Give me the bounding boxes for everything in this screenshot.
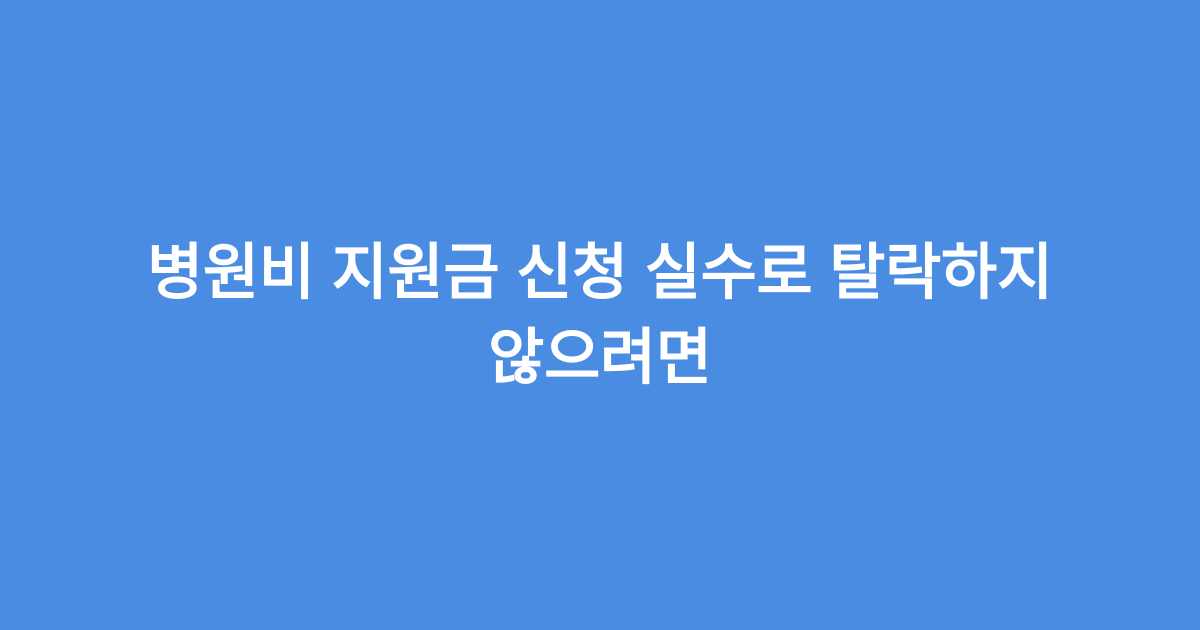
title-block: 병원비 지원금 신청 실수로 탈락하지 않으려면 xyxy=(70,230,1130,400)
og-image-card: 병원비 지원금 신청 실수로 탈락하지 않으려면 xyxy=(0,0,1200,630)
page-title: 병원비 지원금 신청 실수로 탈락하지 않으려면 xyxy=(80,230,1120,400)
